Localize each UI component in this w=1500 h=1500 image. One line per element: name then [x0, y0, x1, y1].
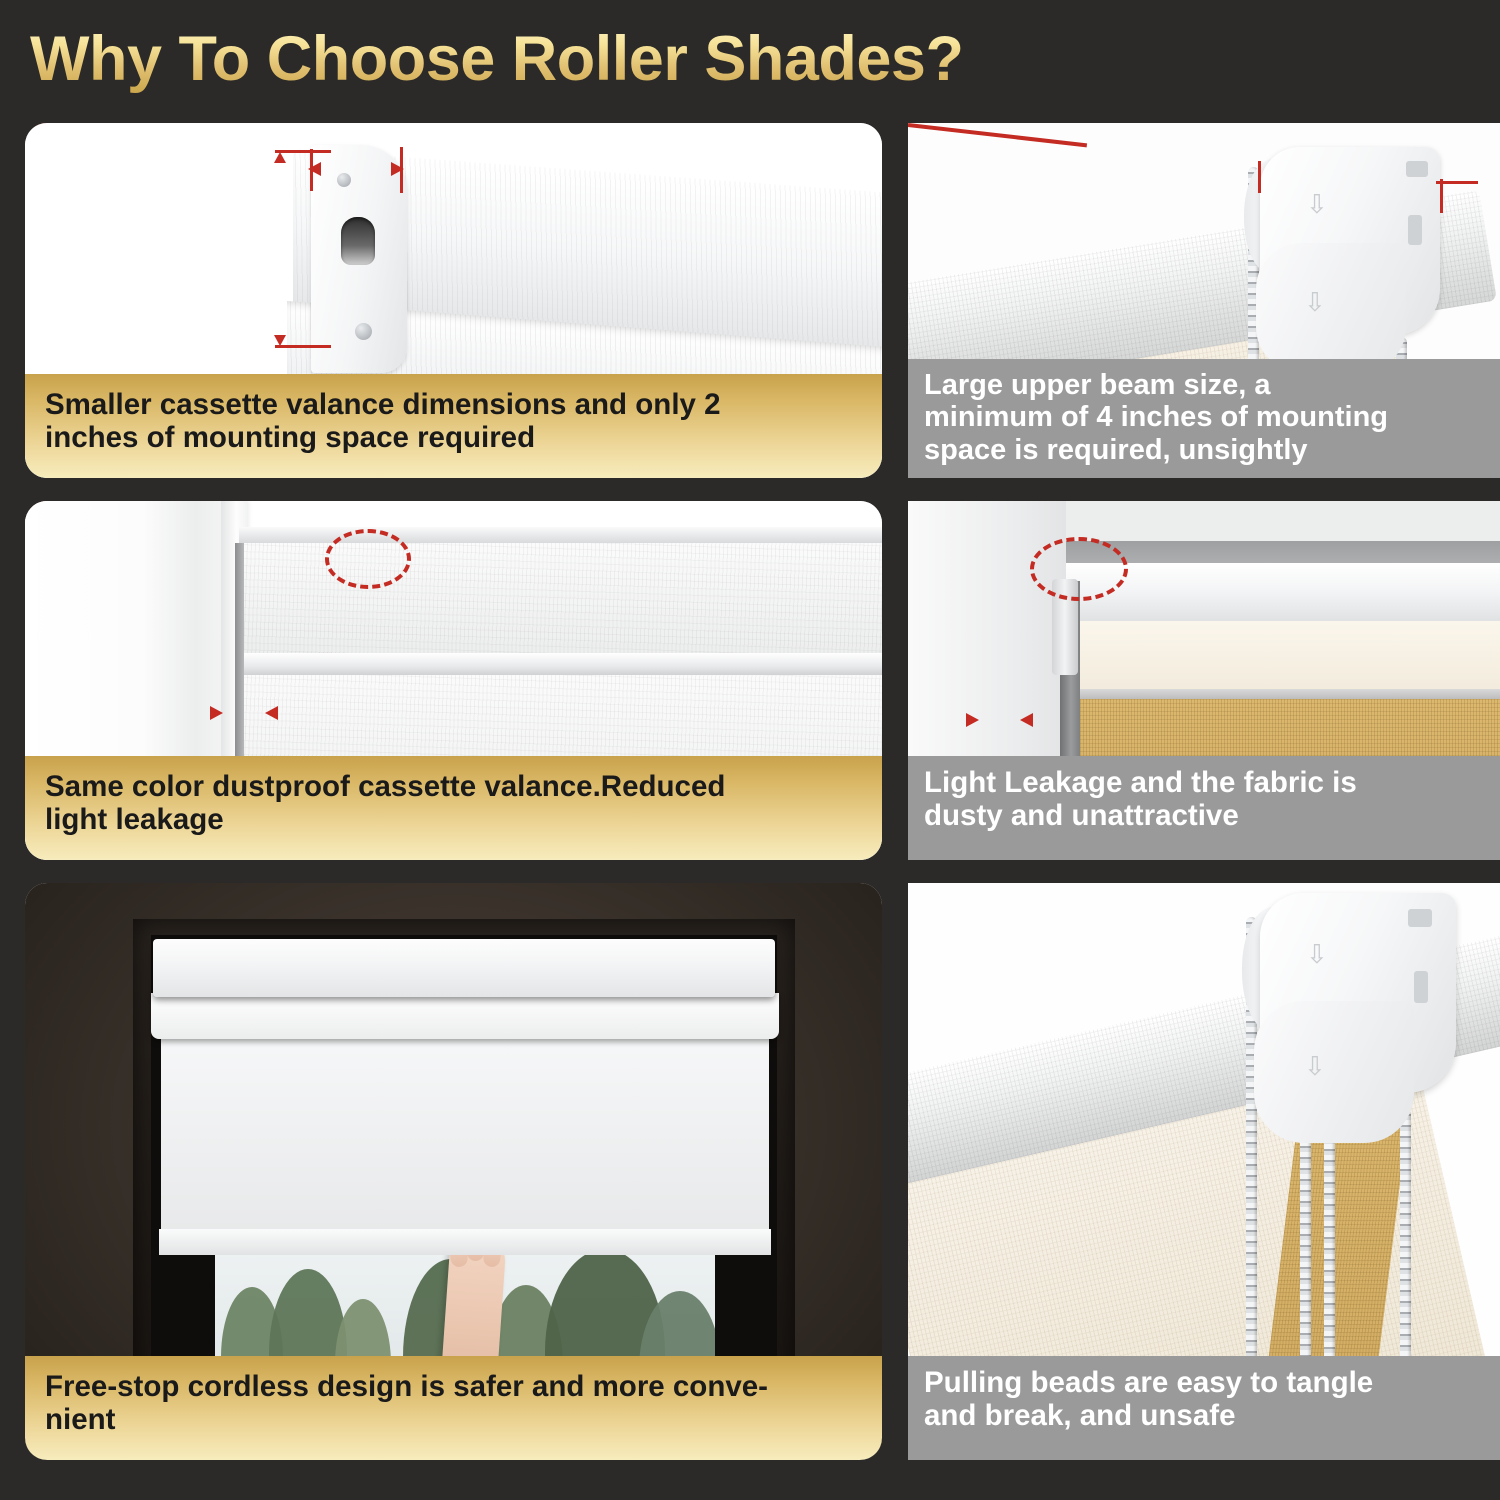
- caption-line: inches of mounting space required: [45, 421, 864, 454]
- caption-free-stop-cordless-design: Free-stop cordless design is safer and m…: [25, 1356, 882, 1460]
- caption-light-leakage-dusty-fabric: Light Leakage and the fabric is dusty an…: [908, 756, 1500, 860]
- panel-free-stop-cordless-design: Free-stop cordless design is safer and m…: [25, 883, 882, 1460]
- caption-line: Free-stop cordless design is safer and m…: [45, 1370, 864, 1403]
- caption-line: space is required, unsightly: [924, 434, 1486, 466]
- caption-line: and break, and unsafe: [924, 1399, 1486, 1432]
- gap-arrow-right: [966, 713, 979, 727]
- comparison-grid: 2.06” 5.49” Smaller cassette valance dim…: [0, 118, 1500, 1500]
- caption-line: Same color dustproof cassette valance.Re…: [45, 770, 864, 803]
- panel-smaller-cassette-valance: 2.06” 5.49” Smaller cassette valance dim…: [25, 123, 882, 478]
- caption-large-upper-beam: Large upper beam size, a minimum of 4 in…: [908, 359, 1500, 478]
- dim-tick-left: [1258, 161, 1261, 193]
- panel-large-upper-beam: ⇩ ⇩ 4.00” 4.00” Large upper beam size, a…: [908, 123, 1500, 478]
- dim-arrow-down: [274, 335, 286, 346]
- caption-line: light leakage: [45, 803, 864, 836]
- dim-arrow-left: [308, 162, 321, 176]
- caption-line: Smaller cassette valance dimensions and …: [45, 388, 864, 421]
- caption-dustproof-cassette-valance: Same color dustproof cassette valance.Re…: [25, 756, 882, 860]
- panel-pulling-beads-tangle: ⇩ ⇩ Pulling beads are easy to tangle and…: [908, 883, 1500, 1460]
- caption-line: Light Leakage and the fabric is: [924, 766, 1486, 799]
- caption-pulling-beads-tangle: Pulling beads are easy to tangle and bre…: [908, 1356, 1500, 1460]
- dim-tick-right: [1440, 179, 1443, 213]
- dim-arrow-right: [391, 162, 404, 176]
- panel-light-leakage-dusty-fabric: Large gap Light Leakage and the fabric i…: [908, 501, 1500, 860]
- page-title: Why To Choose Roller Shades?: [30, 23, 963, 95]
- highlight-circle-smaller-gap: [325, 529, 411, 589]
- dim-arrow-up: [274, 152, 286, 163]
- dim-tick-top: [1436, 181, 1478, 184]
- panel-dustproof-cassette-valance: smaller gap Same color dustproof cassett…: [25, 501, 882, 860]
- gap-arrow-right: [210, 706, 223, 720]
- gap-arrow-left: [1020, 713, 1033, 727]
- header: Why To Choose Roller Shades?: [0, 0, 1500, 118]
- caption-line: minimum of 4 inches of mounting: [924, 401, 1486, 433]
- caption-line: nient: [45, 1403, 864, 1436]
- highlight-circle-large-gap: [1030, 537, 1128, 601]
- caption-line: dusty and unattractive: [924, 799, 1486, 832]
- caption-line: Pulling beads are easy to tangle: [924, 1366, 1486, 1399]
- gap-arrow-left: [265, 706, 278, 720]
- caption-smaller-cassette-valance: Smaller cassette valance dimensions and …: [25, 374, 882, 478]
- caption-line: Large upper beam size, a: [924, 369, 1486, 401]
- bead-chain: [1400, 1109, 1411, 1387]
